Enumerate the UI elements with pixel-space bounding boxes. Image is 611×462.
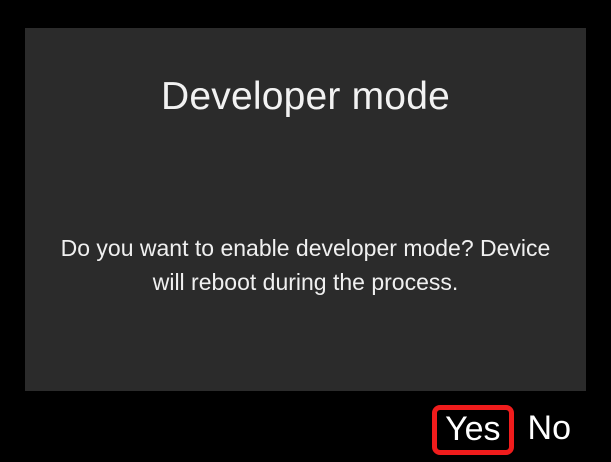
yes-button[interactable]: Yes bbox=[432, 405, 513, 455]
page-title: Developer mode bbox=[25, 74, 586, 120]
developer-mode-dialog-screen: Developer mode Do you want to enable dev… bbox=[0, 0, 611, 462]
yes-button-label: Yes bbox=[445, 411, 500, 447]
dialog-button-bar: Yes No bbox=[0, 398, 611, 462]
dialog-message-text: Do you want to enable developer mode? De… bbox=[55, 231, 556, 299]
dialog-panel: Developer mode Do you want to enable dev… bbox=[25, 28, 586, 391]
no-button-label: No bbox=[528, 409, 571, 447]
no-button[interactable]: No bbox=[526, 408, 573, 452]
